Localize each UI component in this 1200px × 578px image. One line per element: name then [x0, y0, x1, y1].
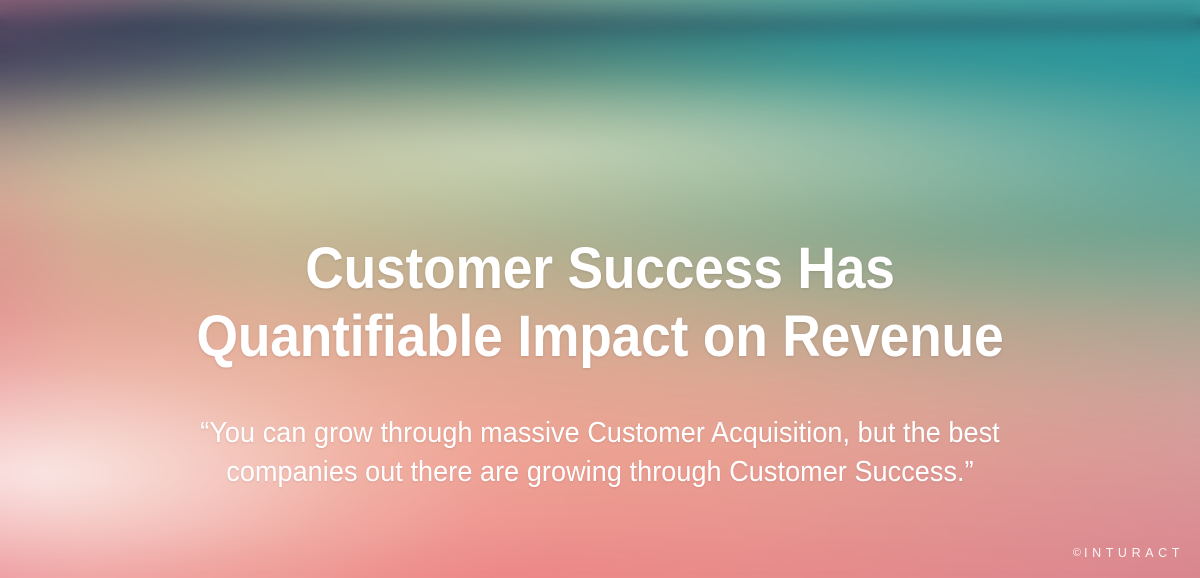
hero-banner: Customer Success Has Quantifiable Impact…	[0, 0, 1200, 578]
banner-content: Customer Success Has Quantifiable Impact…	[0, 0, 1200, 578]
logo-wordmark: INTURACT	[1084, 546, 1184, 560]
headline-line-1: Customer Success Has	[48, 235, 1152, 303]
inturact-logo[interactable]: © INTURACT	[1073, 546, 1184, 560]
copyright-icon: ©	[1073, 548, 1081, 559]
headline-line-2: Quantifiable Impact on Revenue	[48, 303, 1152, 371]
quote-line-1: “You can grow through massive Customer A…	[42, 414, 1158, 453]
quote: “You can grow through massive Customer A…	[42, 414, 1158, 492]
headline: Customer Success Has Quantifiable Impact…	[48, 235, 1152, 371]
quote-line-2: companies out there are growing through …	[42, 453, 1158, 492]
